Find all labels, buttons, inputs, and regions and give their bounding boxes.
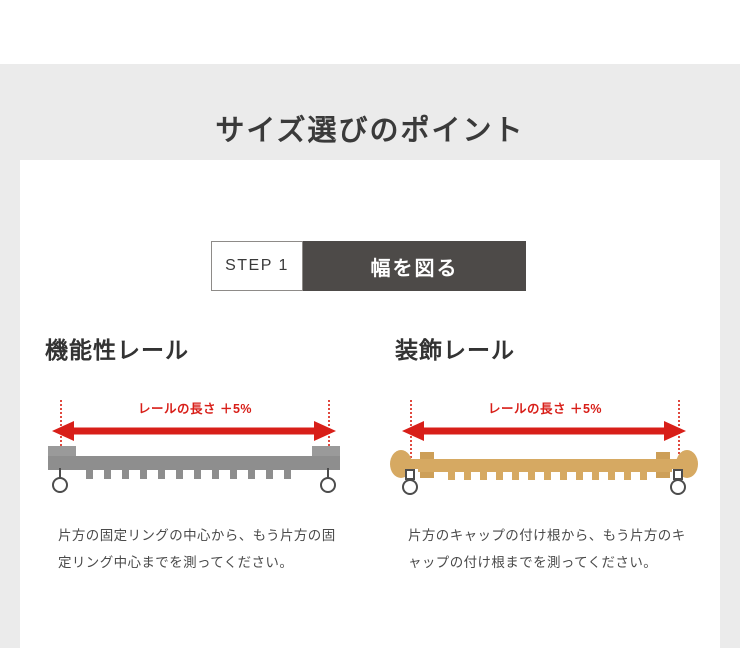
diagram-decorative-rail: レールの長さ ＋5%	[390, 398, 700, 508]
step-number-label: STEP 1	[211, 241, 303, 291]
measure-label-functional: レールの長さ ＋5%	[40, 398, 350, 417]
column-note-functional: 片方の固定リングの中心から、もう片方の固定リング中心までを測ってください。	[58, 522, 340, 576]
diagram-functional-rail: レールの長さ ＋5%	[40, 398, 350, 508]
measure-label-decorative: レールの長さ ＋5%	[390, 398, 700, 417]
card-gutter-left	[0, 160, 20, 648]
column-functional-rail: 機能性レール レールの長さ ＋5%	[20, 330, 370, 576]
step-banner: STEP 1 幅を図る	[211, 241, 526, 291]
measure-arrow-decorative	[390, 420, 700, 442]
step-title-label: 幅を図る	[303, 241, 526, 291]
card-gutter-right	[720, 160, 740, 648]
column-note-decorative: 片方のキャップの付け根から、もう片方のキャップの付け根までを測ってください。	[408, 522, 690, 576]
page-root: サイズ選びのポイント STEP 1 幅を図る 機能性レール レールの長さ ＋5%	[0, 0, 740, 648]
measure-arrow-functional	[40, 420, 350, 442]
column-decorative-rail: 装飾レール レールの長さ ＋5%	[370, 330, 720, 576]
rail-graphic-decorative	[390, 442, 700, 504]
column-heading-functional: 機能性レール	[45, 330, 370, 370]
column-heading-decorative: 装飾レール	[395, 330, 720, 370]
rail-graphic-functional	[40, 442, 350, 504]
